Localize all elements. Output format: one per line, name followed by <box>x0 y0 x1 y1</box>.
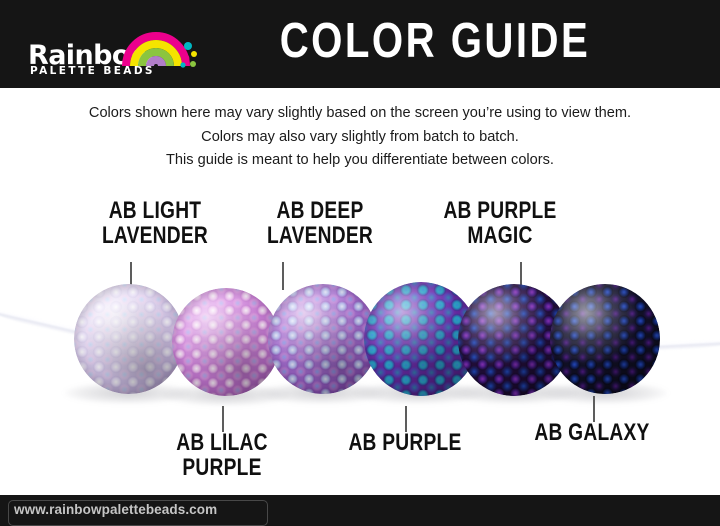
bead-edge <box>172 288 280 396</box>
disclaimer-line-3: This guide is meant to help you differen… <box>14 148 705 172</box>
bead-edge <box>550 284 660 394</box>
color-guide-page: Rainbow PALETTE BEADS COLOR GUIDE Colors… <box>0 0 720 526</box>
footer-bar: www.rainbowpalettebeads.com <box>0 495 720 526</box>
bead-ab-lilac-purple[interactable] <box>172 288 280 396</box>
disclaimer-text: Colors shown here may vary slightly base… <box>14 101 705 172</box>
bead-ab-deep-lavender[interactable] <box>268 284 378 394</box>
bead-ab-light-lavender[interactable] <box>74 284 184 394</box>
bead-ab-galaxy[interactable] <box>550 284 660 394</box>
disclaimer-line-1: Colors shown here may vary slightly base… <box>14 101 705 125</box>
bead-label-ab-purple-magic: AB PURPLEMAGIC <box>400 198 600 248</box>
bead-strip <box>0 268 720 416</box>
brand-logo: Rainbow PALETTE BEADS <box>24 12 204 78</box>
footer-url[interactable]: www.rainbowpalettebeads.com <box>14 502 217 517</box>
header-bar: Rainbow PALETTE BEADS COLOR GUIDE <box>0 0 720 88</box>
bead-label-ab-galaxy: AB GALAXY <box>492 420 692 445</box>
disclaimer-line-2: Colors may also vary slightly from batch… <box>14 125 705 149</box>
rainbow-icon <box>120 16 204 68</box>
bead-edge <box>268 284 378 394</box>
bead-label-ab-lilac-purple: AB LILACPURPLE <box>122 430 322 480</box>
bead-edge <box>74 284 184 394</box>
page-title: COLOR GUIDE <box>280 11 551 72</box>
bead-label-ab-deep-lavender: AB DEEPLAVENDER <box>220 198 420 248</box>
bead-label-ab-purple: AB PURPLE <box>305 430 505 455</box>
